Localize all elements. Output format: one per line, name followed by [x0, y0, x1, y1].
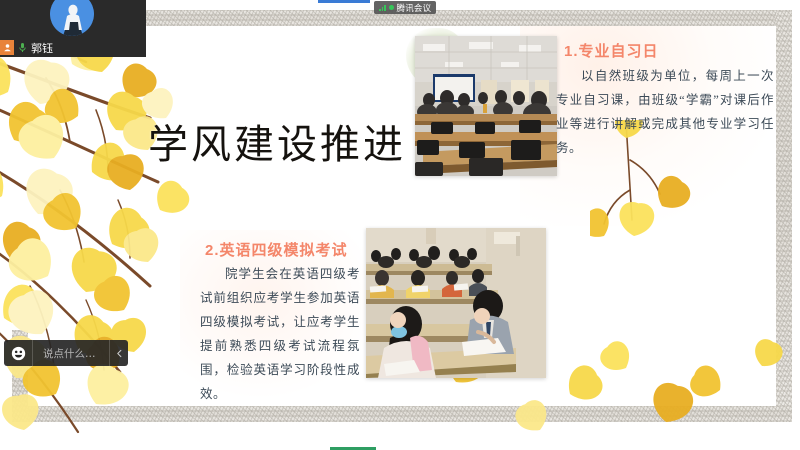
person-avatar-icon	[0, 40, 14, 55]
section-1-heading: 1.专业自习日	[564, 40, 659, 61]
chat-input-bar[interactable]: 说点什么…	[4, 340, 128, 366]
slide-title: 学风建设推进	[148, 112, 418, 170]
chat-input[interactable]: 说点什么…	[33, 340, 109, 366]
exam-hall-photo	[366, 228, 546, 378]
screen-share-stage: 学风建设推进	[0, 0, 800, 450]
section-2-body: 院学生会在英语四级考试前组织应考学生参加英语四级模拟考试，让应考学生提前熟悉四级…	[200, 262, 360, 406]
slide-frame-right	[776, 10, 792, 422]
participant-name: 郭钰	[31, 40, 53, 56]
presentation-slide: 学风建设推进	[0, 0, 800, 450]
participant-name-tag: 郭钰	[0, 40, 58, 55]
avatar	[50, 0, 94, 36]
smiley-face-icon[interactable]	[4, 340, 33, 366]
microphone-icon[interactable]	[17, 40, 28, 55]
meeting-badge-label: 腾讯会议	[397, 2, 432, 14]
recording-dot-icon	[389, 5, 394, 10]
window-accent-sliver	[318, 0, 370, 3]
slide-frame-bottom	[12, 406, 792, 422]
signal-icon	[379, 4, 386, 11]
section-2-heading: 2.英语四级模拟考试	[205, 239, 348, 260]
chevron-left-icon[interactable]	[109, 340, 128, 366]
section-1-body: 以自然班级为单位，每周上一次专业自习课，由班级“学霸”对课后作业等进行讲解或完成…	[556, 64, 774, 160]
classroom-lecture-photo	[415, 36, 557, 176]
self-view-video-panel[interactable]: 郭钰	[0, 0, 146, 57]
meeting-status-badge[interactable]: 腾讯会议	[374, 1, 436, 14]
